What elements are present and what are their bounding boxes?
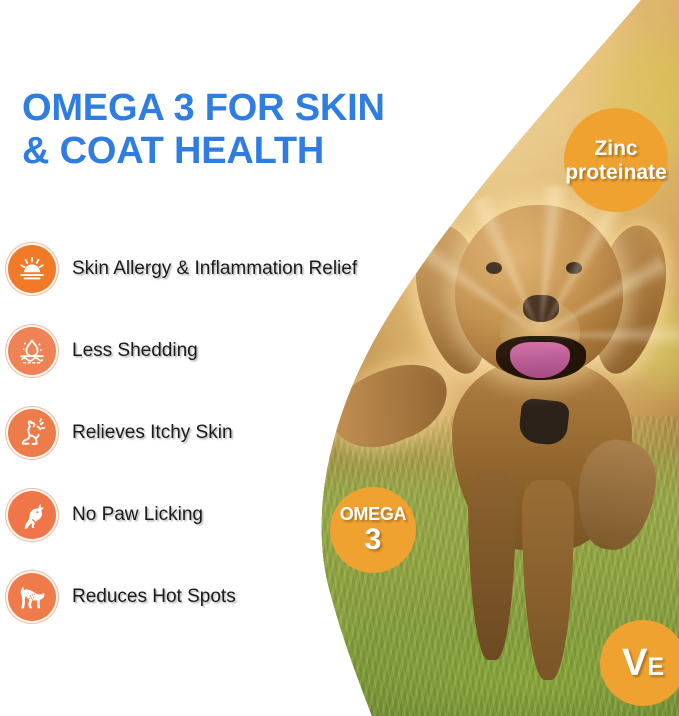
dog-eye-left	[486, 262, 502, 274]
badge-omega-line-2: 3	[365, 525, 382, 555]
list-item: Skin Allergy & Inflammation Relief	[8, 228, 428, 310]
benefits-list: Skin Allergy & Inflammation Relief	[8, 228, 428, 638]
badge-vitamin-e: V E	[600, 620, 679, 706]
list-item: Relieves Itchy Skin	[8, 392, 428, 474]
badge-omega-line-1: OMEGA	[340, 505, 407, 523]
badge-zinc-proteinate: Zinc proteinate	[564, 108, 668, 212]
page-title-line-1: OMEGA 3 FOR SKIN	[22, 87, 452, 130]
page-title-line-2: & COAT HEALTH	[22, 130, 452, 173]
dog-scratching-icon	[8, 409, 56, 457]
dog-leg-left	[468, 470, 516, 660]
list-item-label: Less Shedding	[72, 340, 198, 362]
list-item: Less Shedding	[8, 310, 428, 392]
badge-vitamin-e-e: E	[647, 655, 664, 680]
badge-vitamin-e-v: V	[622, 644, 647, 682]
dog-nose	[523, 295, 559, 322]
dog-eye-right	[566, 262, 582, 274]
sunrise-icon	[8, 245, 56, 293]
page-title: OMEGA 3 FOR SKIN & COAT HEALTH	[22, 87, 452, 172]
dog-hot-spots-icon	[8, 573, 56, 621]
badge-omega-3: OMEGA 3	[330, 487, 416, 573]
badge-zinc-line-1: Zinc	[594, 138, 637, 159]
list-item-label: Relieves Itchy Skin	[72, 422, 233, 444]
badge-zinc-line-2: proteinate	[565, 162, 667, 183]
infographic-canvas: OMEGA 3 FOR SKIN & COAT HEALTH	[0, 0, 679, 716]
dog-leg-right	[522, 480, 574, 680]
list-item-label: No Paw Licking	[72, 504, 203, 526]
list-item-label: Skin Allergy & Inflammation Relief	[72, 258, 357, 280]
water-droplet-icon	[8, 327, 56, 375]
list-item-label: Reduces Hot Spots	[72, 586, 236, 608]
dog-paw-licking-icon	[8, 491, 56, 539]
